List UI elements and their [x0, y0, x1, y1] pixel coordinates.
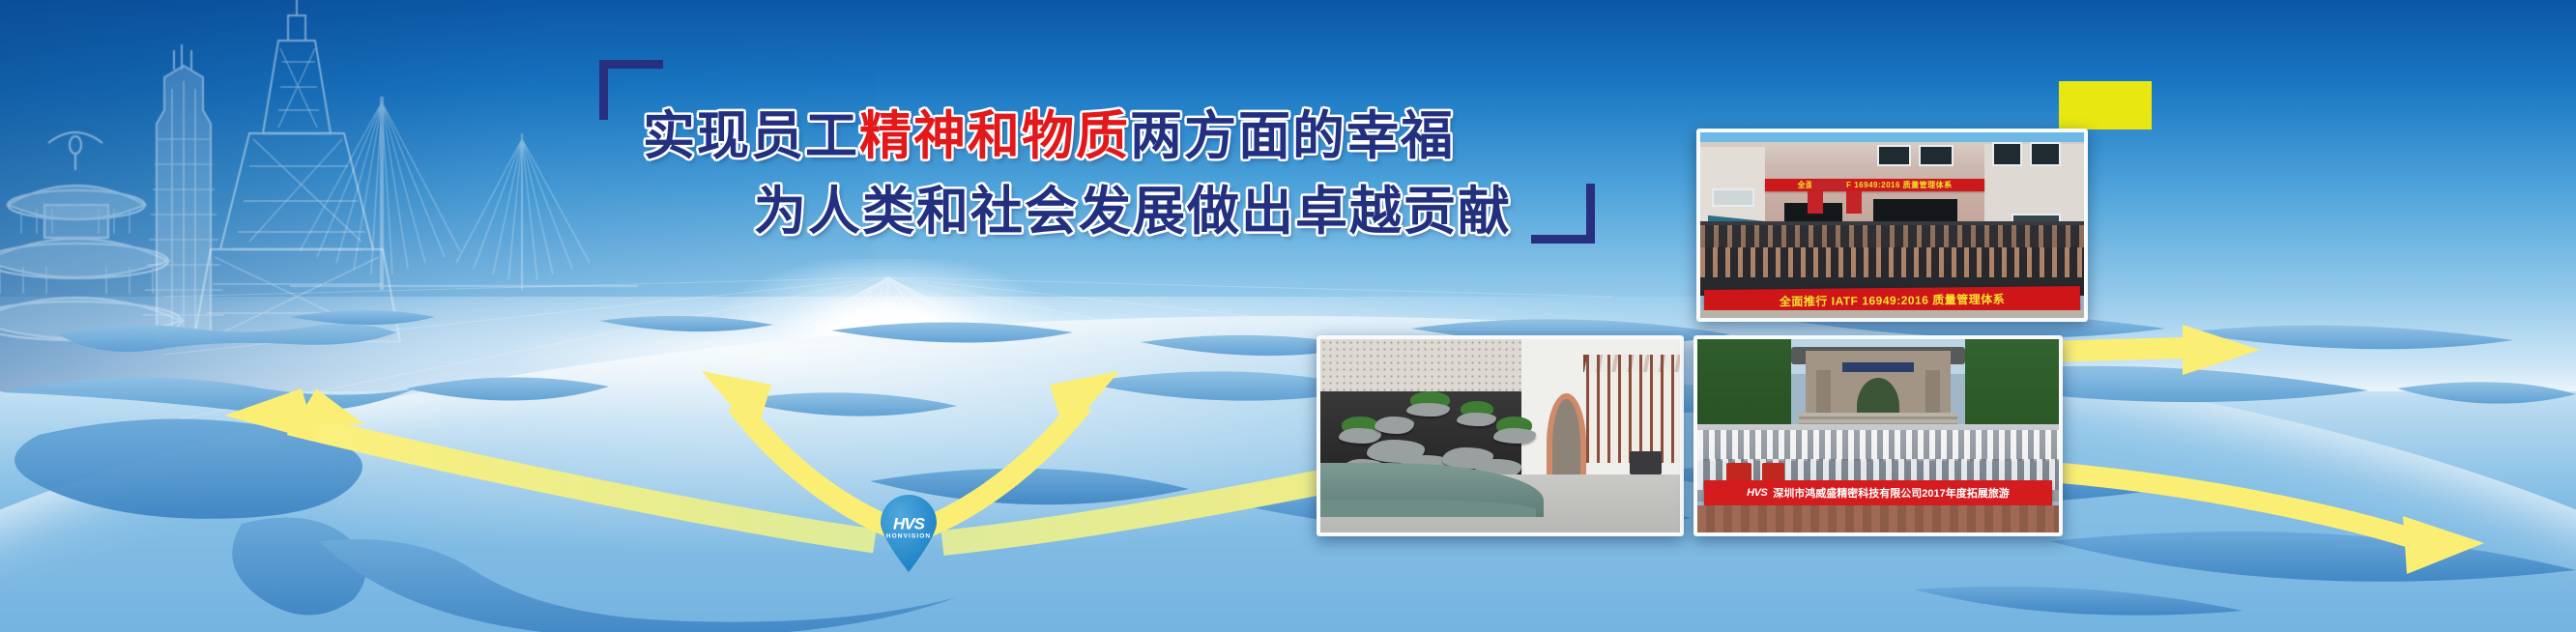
slogan-line1-part1: 实现员工: [643, 105, 859, 166]
arrow-to-north-america: [702, 371, 889, 527]
slogan-line2-text: 为人类和社会发展做出卓越贡献: [754, 181, 1512, 242]
slogan-line-1: 实现员工精神和物质两方面的幸福: [643, 93, 1455, 169]
photo-iatf-group[interactable]: 全面推行 IATF 16949:2016 质量管理体系 全面推行 IATF 16…: [1696, 129, 2088, 322]
photo-outing[interactable]: HVS 深圳市鸿威盛精密科技有限公司2017年度拓展旅游: [1693, 335, 2063, 536]
yellow-accent-block: [2059, 81, 2152, 129]
outing-banner-text: 深圳市鸿威盛精密科技有限公司2017年度拓展旅游: [1773, 485, 2009, 501]
outing-banner-mark: HVS: [1747, 487, 1767, 499]
slogan-line1-part3: 两方面的幸福: [1130, 105, 1455, 166]
corner-bracket-bottom-right-icon: [1531, 184, 1595, 244]
arrow-to-asia-north: [928, 371, 1119, 527]
slogan-line1-highlight: 精神和物质: [859, 105, 1130, 166]
honvision-map-pin[interactable]: HVS HONVISION: [877, 495, 941, 574]
iatf-banner-top-text: 全面推行 IATF 16949:2016 质量管理体系: [1765, 179, 1983, 191]
slogan-line-2: 为人类和社会发展做出卓越贡献: [754, 168, 1512, 244]
outing-banner: HVS 深圳市鸿威盛精密科技有限公司2017年度拓展旅游: [1704, 480, 2051, 505]
arrow-to-pacific-far: [2042, 325, 2260, 375]
photo-courtyard[interactable]: [1317, 335, 1684, 536]
slogan-block: 实现员工精神和物质两方面的幸福 为人类和社会发展做出卓越贡献: [599, 60, 1595, 244]
company-culture-banner: HVS HONVISION 实现员工精神和物质两方面的幸福 为人类和社会发展做出…: [0, 0, 2576, 632]
arrow-to-oceania: [2042, 472, 2484, 574]
